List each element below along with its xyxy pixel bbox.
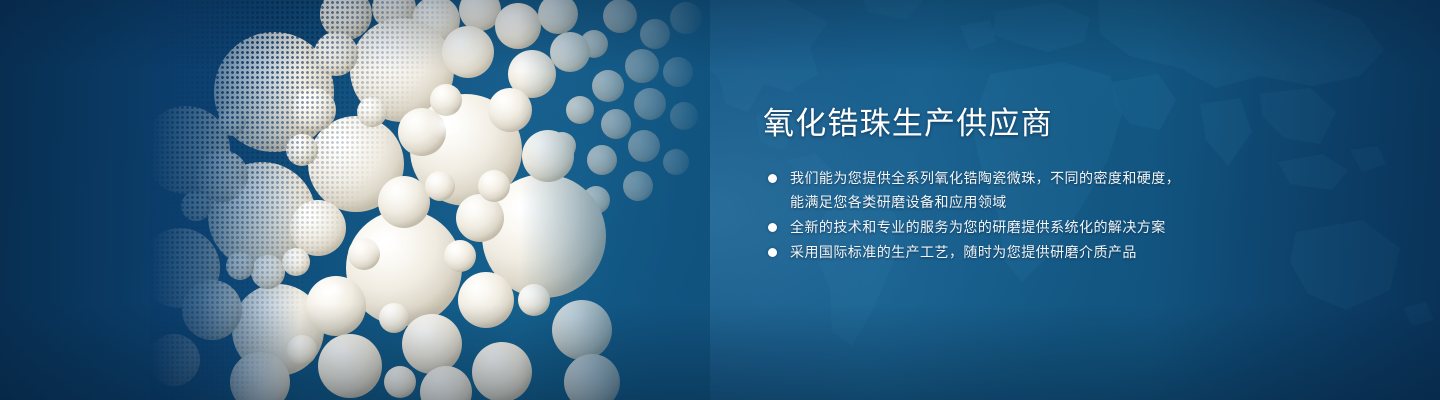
bullet-text-line-1: 采用国际标准的生产工艺，随时为您提供研磨介质产品 [790, 244, 1137, 260]
list-item: 采用国际标准的生产工艺，随时为您提供研磨介质产品 [763, 240, 1233, 264]
list-item: 全新的技术和专业的服务为您的研磨提供系统化的解决方案 [763, 215, 1233, 239]
bullet-text-line-1: 我们能为您提供全系列氧化锆陶瓷微珠，不同的密度和硬度， [790, 170, 1180, 186]
page-title: 氧化锆珠生产供应商 [763, 104, 1233, 144]
bullet-text-line-2: 能满足您各类研磨设备和应用领域 [790, 190, 1233, 214]
hero-banner: 氧化锆珠生产供应商 我们能为您提供全系列氧化锆陶瓷微珠，不同的密度和硬度， 能满… [0, 0, 1440, 400]
bullet-dot-icon [768, 174, 777, 183]
banner-copy-block: 氧化锆珠生产供应商 我们能为您提供全系列氧化锆陶瓷微珠，不同的密度和硬度， 能满… [763, 104, 1233, 265]
bullet-text-line-1: 全新的技术和专业的服务为您的研磨提供系统化的解决方案 [790, 219, 1166, 235]
bullet-dot-icon [768, 223, 777, 232]
list-item: 我们能为您提供全系列氧化锆陶瓷微珠，不同的密度和硬度， 能满足您各类研磨设备和应… [763, 166, 1233, 214]
bullet-dot-icon [768, 248, 777, 257]
feature-bullet-list: 我们能为您提供全系列氧化锆陶瓷微珠，不同的密度和硬度， 能满足您各类研磨设备和应… [763, 166, 1233, 264]
zirconia-beads-photo [150, 0, 710, 400]
